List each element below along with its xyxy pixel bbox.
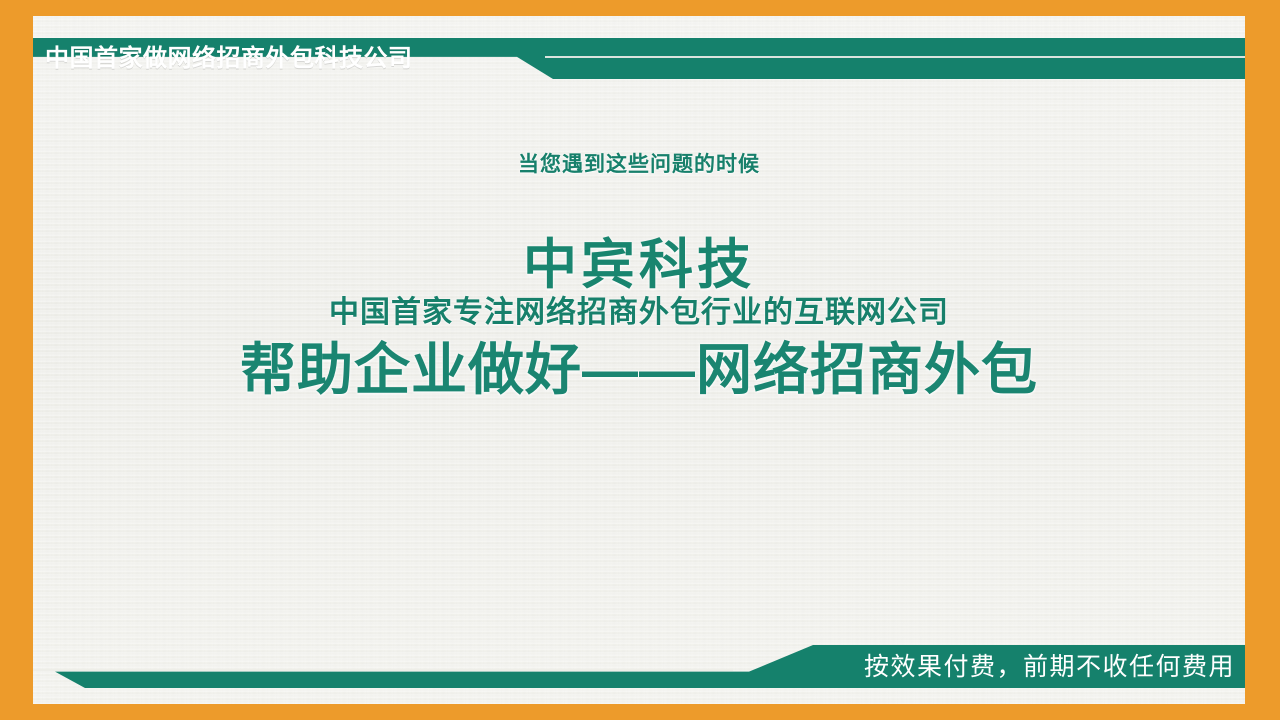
eyebrow-text: 当您遇到这些问题的时候 <box>33 150 1245 180</box>
footer-hairline-divider <box>33 669 733 671</box>
spacer <box>33 180 1245 232</box>
brand-name: 中宾科技 <box>33 232 1245 298</box>
brand-tagline: 中国首家专注网络招商外包行业的互联网公司 <box>33 294 1245 332</box>
slide-canvas: 中国首家做网络招商外包科技公司 当您遇到这些问题的时候 中宾科技 中国首家专注网… <box>0 0 1280 720</box>
footer-text: 按效果付费，前期不收任何费用 <box>864 648 1235 686</box>
header-hairline-divider <box>545 56 1245 58</box>
main-headline: 帮助企业做好——网络招商外包 <box>33 334 1245 406</box>
main-content: 当您遇到这些问题的时候 中宾科技 中国首家专注网络招商外包行业的互联网公司 帮助… <box>33 150 1245 406</box>
header-title: 中国首家做网络招商外包科技公司 <box>45 40 413 77</box>
